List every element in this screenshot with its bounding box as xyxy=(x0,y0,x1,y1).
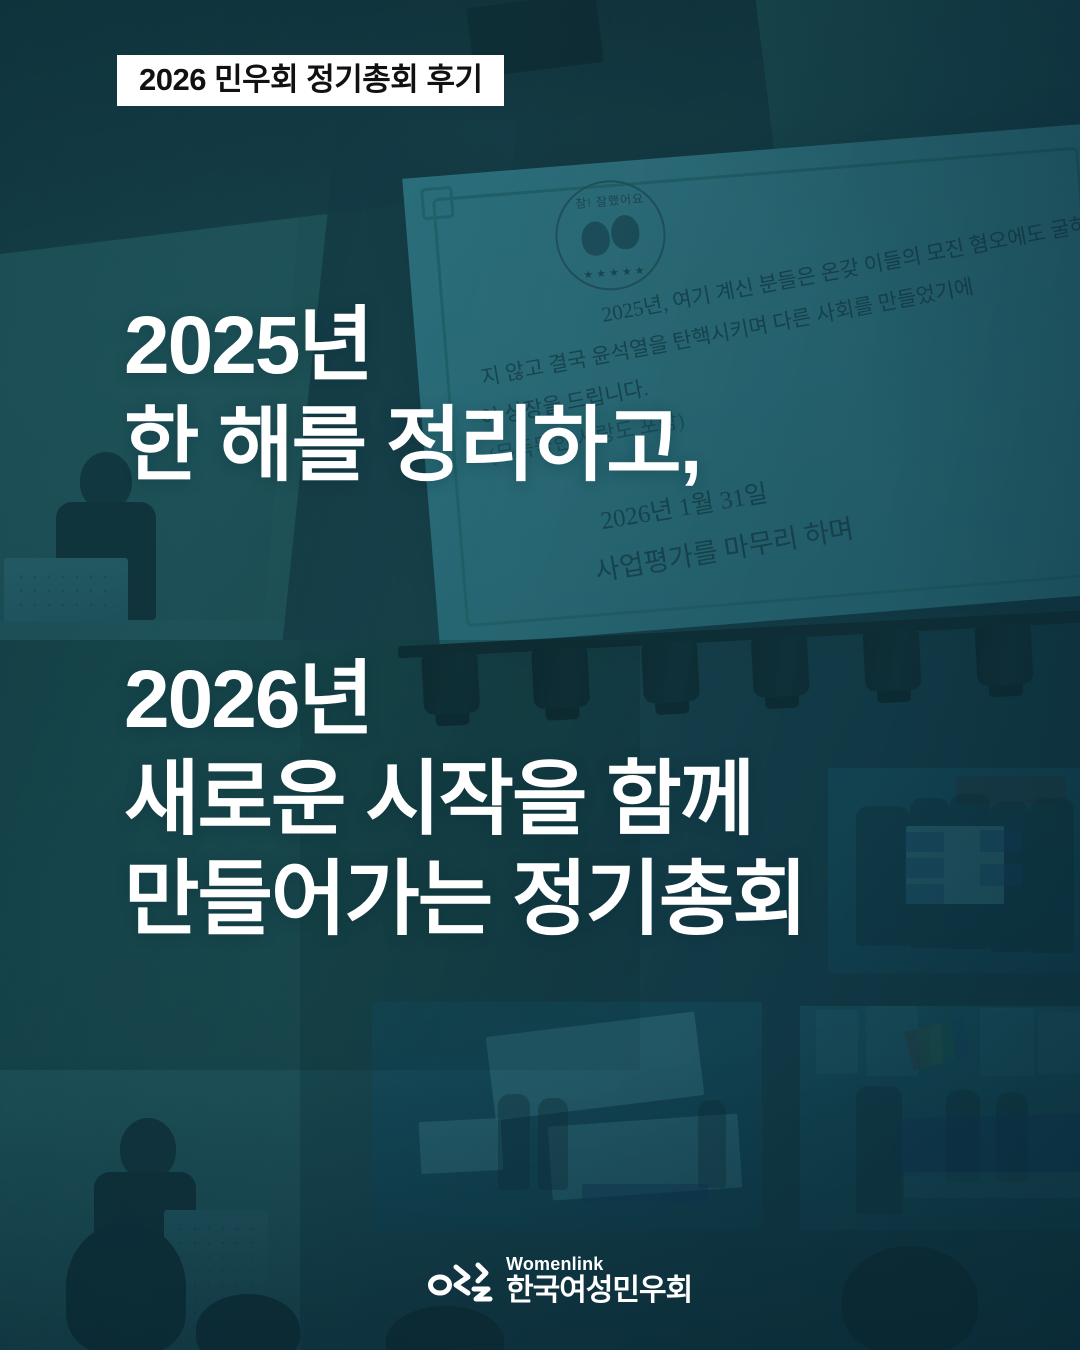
headline-line: 2026년 xyxy=(124,650,806,750)
poster-card: 참! 잘했어요 ★★★★★ 2025년, 여기 계신 분들은 온갖 이들의 모진… xyxy=(0,0,1080,1350)
womenlink-logomark-icon xyxy=(428,1259,494,1303)
logo-wordmark: Womenlink 한국여성민우회 xyxy=(506,1255,692,1306)
headline-line: 새로운 시작을 함께 xyxy=(124,750,806,850)
headline-block-2026: 2026년 새로운 시작을 함께 만들어가는 정기총회 xyxy=(124,650,806,950)
poster-content: 2026 민우회 정기총회 후기 2025년 한 해를 정리하고, 2026년 … xyxy=(0,0,1080,1350)
headline-block-2025: 2025년 한 해를 정리하고, xyxy=(124,296,700,496)
headline-line: 만들어가는 정기총회 xyxy=(124,850,806,950)
womenlink-logo: Womenlink 한국여성민우회 xyxy=(428,1255,692,1306)
headline-line: 한 해를 정리하고, xyxy=(124,396,700,496)
headline-line: 2025년 xyxy=(124,296,700,396)
logo-korean-name: 한국여성민우회 xyxy=(506,1275,692,1307)
logo-english-name: Womenlink xyxy=(506,1255,692,1274)
topic-badge: 2026 민우회 정기총회 후기 xyxy=(117,55,504,106)
